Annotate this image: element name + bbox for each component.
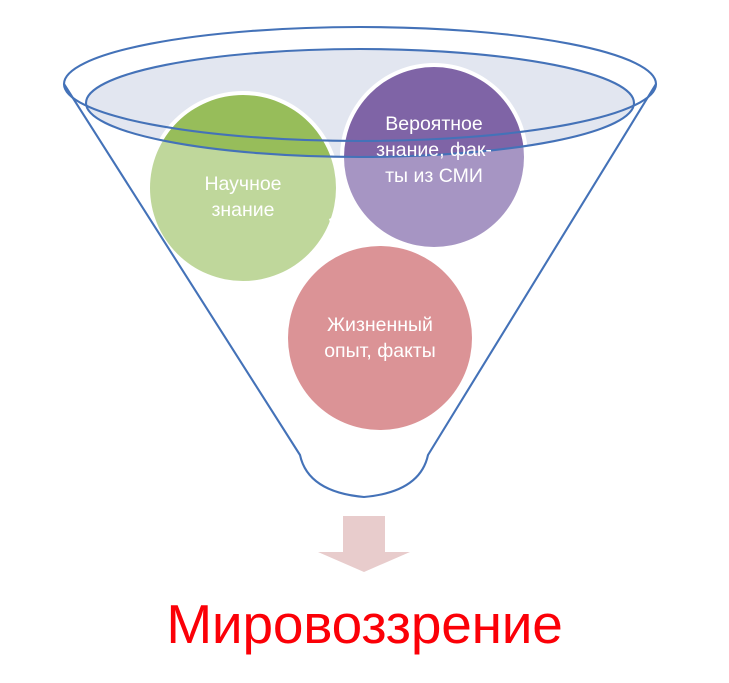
bubble-life-experience-group <box>284 242 476 434</box>
down-arrow-icon <box>318 516 410 572</box>
funnel-diagram-graphic <box>0 0 729 683</box>
diagram-canvas: Научное знание Вероятное знание, фак- ты… <box>0 0 729 683</box>
bubble-life-experience <box>288 246 472 430</box>
outcome-title: Мировоззрение <box>0 592 729 656</box>
